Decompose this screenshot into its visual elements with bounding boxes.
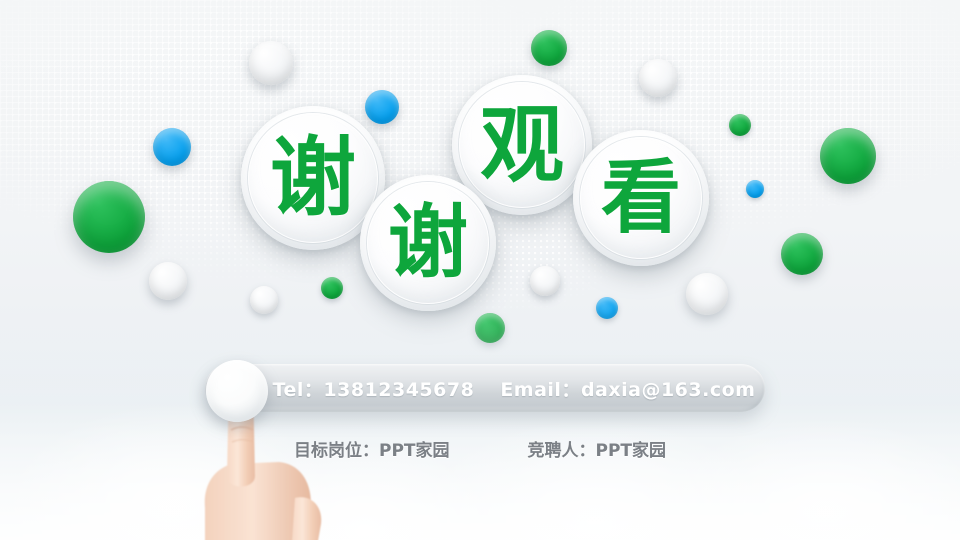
dot-blue-3 <box>153 128 191 166</box>
pill-knob-button[interactable] <box>206 360 268 422</box>
dot-white-6 <box>686 273 728 315</box>
slide-canvas: 谢 观 看 谢 <box>0 0 960 540</box>
dot-blue-1 <box>365 90 399 124</box>
target-position-value: PPT家园 <box>379 441 450 461</box>
dot-blue-2 <box>746 180 764 198</box>
bubble-character: 谢 <box>270 135 356 221</box>
bubble-kan: 看 <box>573 130 709 266</box>
footer-info: 目标岗位：PPT家园 竞聘人：PPT家园 <box>0 436 960 461</box>
dot-white-3 <box>149 262 187 300</box>
dot-green-4 <box>781 233 823 275</box>
cloud-haze <box>0 400 960 540</box>
tel-label: Tel： <box>273 379 324 401</box>
candidate-value: PPT家园 <box>596 441 667 461</box>
tel-value: 13812345678 <box>323 379 474 401</box>
dot-white-4 <box>250 286 278 314</box>
dot-white-5 <box>530 266 560 296</box>
dot-white-1 <box>249 41 293 85</box>
bubble-character: 看 <box>601 158 681 238</box>
email-value: daxia@163.com <box>581 379 756 401</box>
dot-green-6 <box>321 277 343 299</box>
dot-green-5 <box>73 181 145 253</box>
contact-text: Tel：13812345678Email：daxia@163.com <box>215 375 756 402</box>
dot-green-3 <box>820 128 876 184</box>
contact-pill-bar: Tel：13812345678Email：daxia@163.com <box>205 364 765 412</box>
candidate: 竞聘人：PPT家园 <box>528 436 667 461</box>
email-label: Email： <box>500 379 581 401</box>
bubble-character: 谢 <box>388 203 468 283</box>
dot-green-1 <box>531 30 567 66</box>
bubble-character: 观 <box>480 103 564 187</box>
dot-blue-4 <box>596 297 618 319</box>
dot-white-2 <box>639 59 677 97</box>
bubble-xie-2: 谢 <box>360 175 496 311</box>
candidate-label: 竞聘人： <box>528 441 596 461</box>
dot-green-2 <box>729 114 751 136</box>
target-position: 目标岗位：PPT家园 <box>294 436 450 461</box>
target-position-label: 目标岗位： <box>294 441 379 461</box>
dot-green-7 <box>475 313 505 343</box>
